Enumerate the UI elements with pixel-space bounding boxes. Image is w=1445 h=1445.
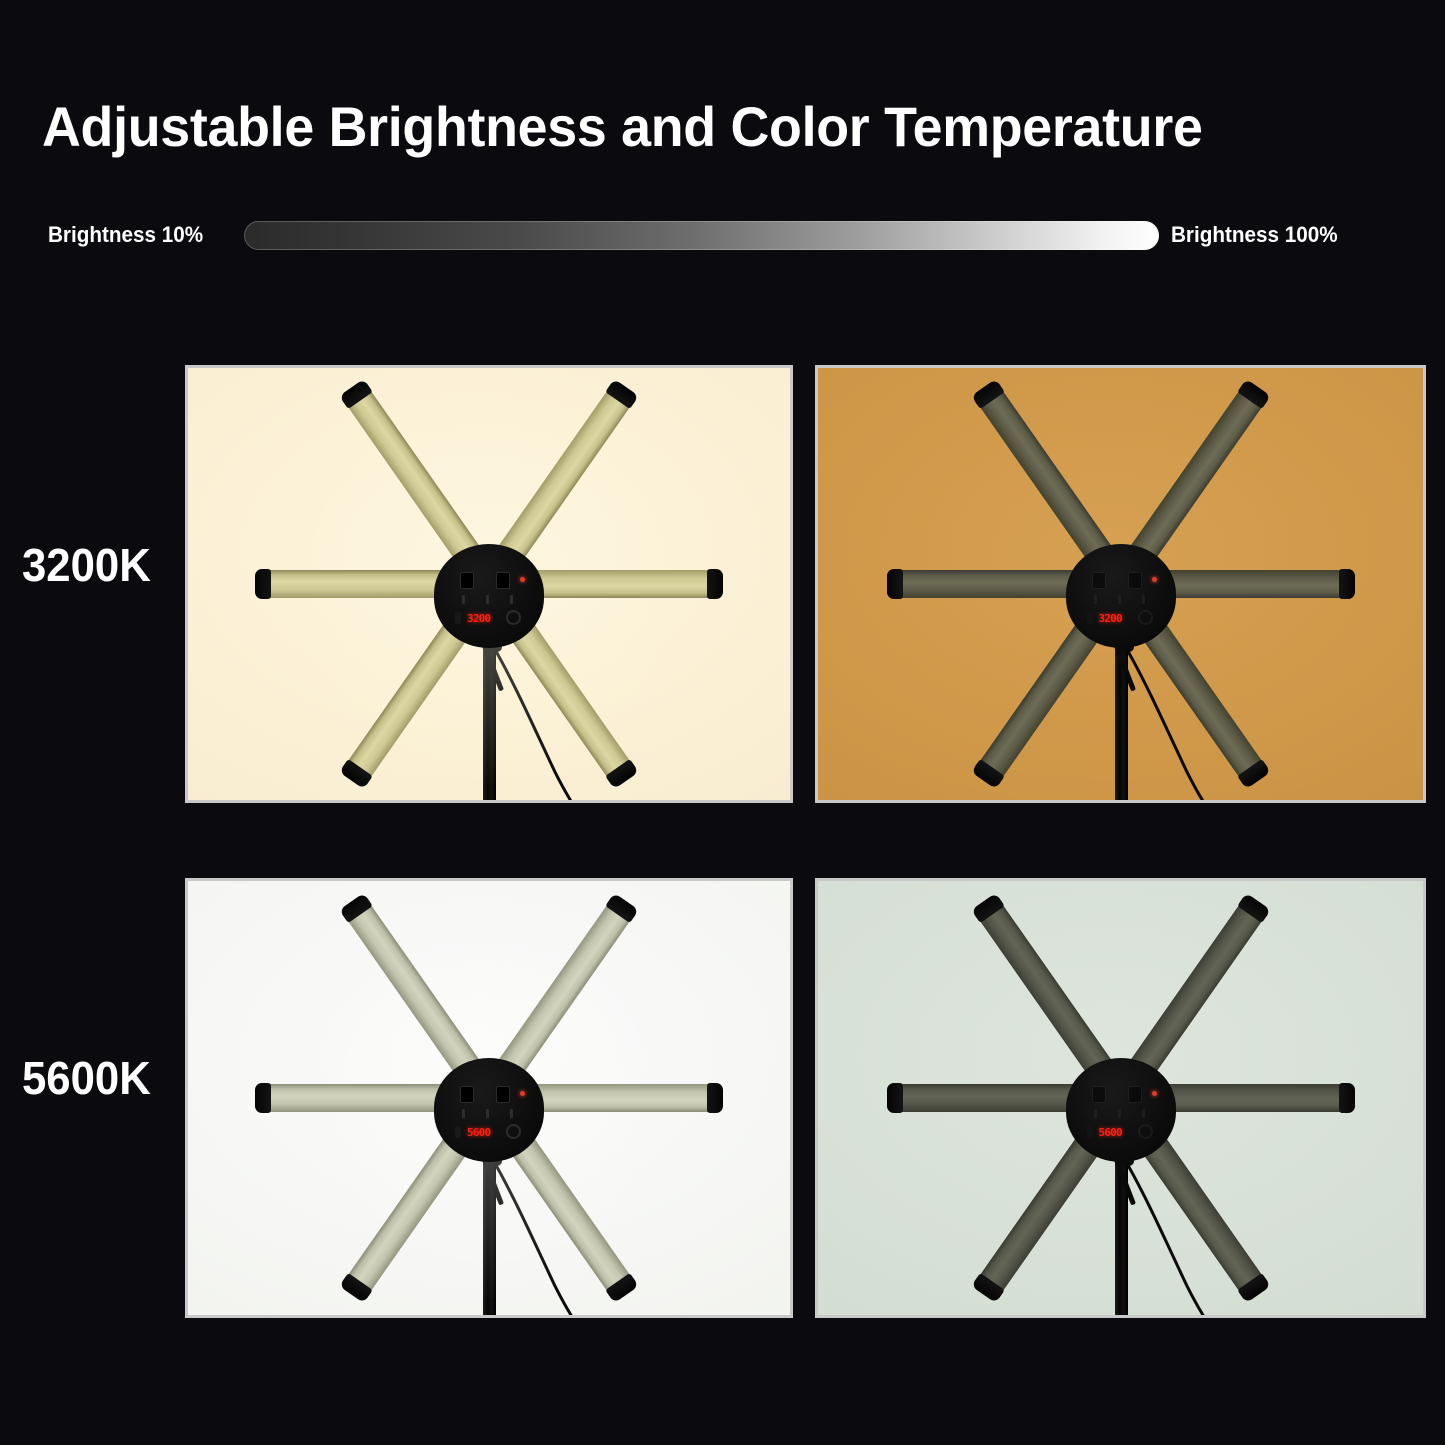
lamp-stage: 5600 [818,881,1423,1315]
hub-slot [1094,1109,1097,1118]
usb-port [1087,612,1093,624]
lamp-stage: 5600 [188,881,790,1315]
hub-slot [486,595,489,604]
hub-control-block [1128,1086,1142,1103]
power-led-icon [1152,577,1157,582]
arm-endcap [971,379,1005,409]
row-label-5600k: 5600K [22,1055,151,1101]
color-temp-display: 5600 [467,1127,490,1138]
power-led-icon [520,577,525,582]
arm-endcap [339,759,373,789]
control-hub: 3200 [1066,544,1176,648]
power-led-icon [1152,1091,1157,1096]
arm-endcap [887,1083,903,1113]
hub-control-block [1128,572,1142,589]
hub-slot [1094,595,1097,604]
page-title: Adjustable Brightness and Color Temperat… [42,96,1357,158]
arm-endcap [339,893,373,923]
hub-slot [462,595,465,604]
hub-slot [486,1109,489,1118]
control-hub: 5600 [434,1058,544,1162]
control-dial [506,610,521,625]
lamp-stage: 3200 [818,368,1423,800]
hub-control-block [496,572,510,589]
hub-slot [510,1109,513,1118]
arm-endcap [1339,569,1355,599]
arm-endcap [255,1083,271,1113]
control-hub: 3200 [434,544,544,648]
product-photo-5600k-bright: 5600 [185,878,793,1318]
control-dial [506,1124,521,1139]
product-photo-5600k-dim: 5600 [815,878,1426,1318]
product-photo-3200k-dim: 3200 [815,365,1426,803]
hub-control-block [1092,572,1106,589]
arm-endcap [971,759,1005,789]
hub-control-block [460,1086,474,1103]
arm-endcap [971,1273,1005,1303]
hub-slot [510,595,513,604]
arm-endcap [605,1273,639,1303]
brightness-low-label: Brightness 10% [48,218,232,252]
hub-control-block [496,1086,510,1103]
brightness-high-label: Brightness 100% [1171,218,1373,252]
arm-endcap [707,1083,723,1113]
hub-slot [1118,595,1121,604]
color-temp-display: 3200 [467,613,490,624]
hub-slot [1142,595,1145,604]
arm-endcap [339,379,373,409]
brightness-gradient-bar [244,221,1159,250]
hub-control-block [460,572,474,589]
color-temp-display: 5600 [1099,1127,1122,1138]
arm-endcap [971,893,1005,923]
arm-endcap [1339,1083,1355,1113]
hub-control-block [1092,1086,1106,1103]
lamp-stage: 3200 [188,368,790,800]
arm-endcap [1237,893,1271,923]
hub-slot [1142,1109,1145,1118]
usb-port [1087,1126,1093,1138]
arm-endcap [255,569,271,599]
color-temp-display: 3200 [1099,613,1122,624]
product-photo-3200k-bright: 3200 [185,365,793,803]
arm-endcap [1237,379,1271,409]
control-dial [1138,610,1153,625]
control-hub: 5600 [1066,1058,1176,1162]
hub-slot [462,1109,465,1118]
row-label-3200k: 3200K [22,542,151,588]
arm-endcap [707,569,723,599]
power-led-icon [520,1091,525,1096]
usb-port [455,612,461,624]
usb-port [455,1126,461,1138]
arm-endcap [605,759,639,789]
hub-slot [1118,1109,1121,1118]
brightness-legend: Brightness 10% Brightness 100% [0,218,1445,252]
control-dial [1138,1124,1153,1139]
arm-endcap [339,1273,373,1303]
arm-endcap [887,569,903,599]
arm-endcap [605,893,639,923]
arm-endcap [605,379,639,409]
